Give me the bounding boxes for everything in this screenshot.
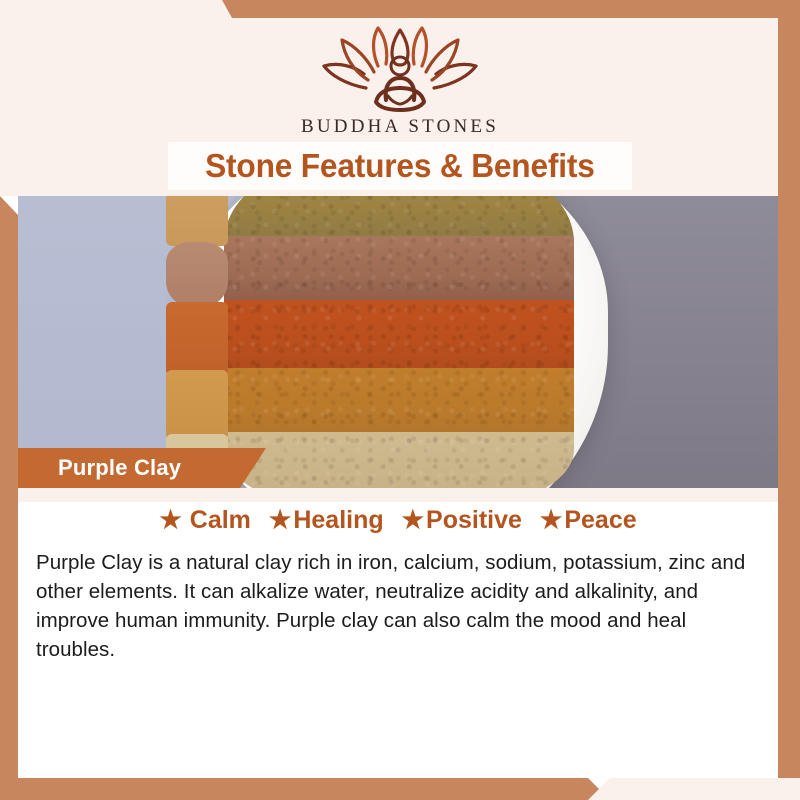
feature-label: Positive [426, 506, 522, 535]
clay-powder-plate-photo [18, 196, 778, 488]
page-title: Stone Features & Benefits [205, 147, 595, 185]
powder-center-swatches [166, 196, 228, 488]
content-panel: ★ Calm ★ Healing ★ Positive ★ Peace Purp… [18, 488, 778, 778]
star-icon: ★ [269, 508, 291, 533]
lotus-meditation-logo-icon [316, 22, 484, 114]
feature-label: Calm [190, 506, 251, 535]
brand-wordmark: BUDDHA STONES [0, 116, 800, 138]
title-banner: Stone Features & Benefits [168, 142, 632, 190]
feature-item-peace: ★ Peace [540, 506, 637, 535]
star-icon: ★ [159, 508, 181, 533]
center-swatch-2 [166, 242, 228, 308]
feature-keywords-row: ★ Calm ★ Healing ★ Positive ★ Peace [18, 506, 778, 535]
product-name-label: Purple Clay [58, 455, 181, 481]
frame-bottom-cream-wedge [588, 778, 800, 800]
star-icon: ★ [402, 508, 424, 533]
feature-item-positive: ★ Positive [402, 506, 522, 535]
feature-item-healing: ★ Healing [269, 506, 384, 535]
feature-label: Peace [564, 506, 636, 535]
feature-item-calm: ★ Calm [159, 506, 251, 535]
powder-grain-texture [224, 196, 574, 488]
product-name-banner: Purple Clay [18, 448, 266, 488]
frame-right-bar [778, 0, 800, 800]
center-swatch-3 [166, 302, 228, 376]
powder-bands [224, 196, 574, 488]
center-swatch-4 [166, 370, 228, 440]
star-icon: ★ [540, 508, 562, 533]
center-swatch-1 [166, 196, 228, 246]
brand-logo-block: BUDDHA STONES [0, 22, 800, 138]
product-info-poster: BUDDHA STONES Stone Features & Benefits … [0, 0, 800, 800]
frame-right-inner-cream [774, 18, 778, 196]
content-top-strip [18, 488, 778, 502]
feature-label: Healing [293, 506, 383, 535]
frame-left-bar [0, 196, 18, 800]
product-description: Purple Clay is a natural clay rich in ir… [36, 548, 766, 664]
